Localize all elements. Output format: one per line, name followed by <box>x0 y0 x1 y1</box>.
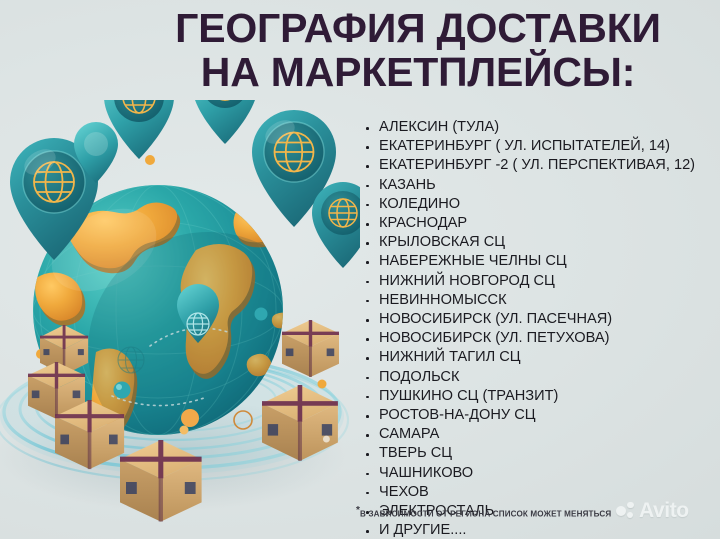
list-item: ЧАШНИКОВО <box>360 464 716 483</box>
list-item: НЕВИННОМЫССК <box>360 291 716 310</box>
title-line-1: ГЕОГРАФИЯ ДОСТАВКИ <box>120 6 716 50</box>
list-item: КРАСНОДАР <box>360 214 716 233</box>
list-item: ЕКАТЕРИНБУРГ -2 ( УЛ. ПЕРСПЕКТИВАЯ, 12) <box>360 156 716 175</box>
list-item: НАБЕРЕЖНЫЕ ЧЕЛНЫ СЦ <box>360 252 716 271</box>
delivery-city-list: АЛЕКСИН (ТУЛА) ЕКАТЕРИНБУРГ ( УЛ. ИСПЫТА… <box>360 118 716 539</box>
list-item: И ДРУГИЕ.... <box>360 521 716 539</box>
globe-node-dot-1 <box>114 382 131 399</box>
globe-illustration <box>0 100 360 539</box>
parcel-box-right-upper <box>282 320 339 377</box>
list-item: ЕКАТЕРИНБУРГ ( УЛ. ИСПЫТАТЕЛЕЙ, 14) <box>360 137 716 156</box>
list-item: КАЗАНЬ <box>360 176 716 195</box>
footnote-text: В ЗАВИСИМОСТИ ОТ РЕГИОНА СПИСОК МОЖЕТ МЕ… <box>360 510 611 519</box>
list-item: САМАРА <box>360 425 716 444</box>
list-item: КРЫЛОВСКАЯ СЦ <box>360 233 716 252</box>
list-item: НОВОСИБИРСК (УЛ. ПАСЕЧНАЯ) <box>360 310 716 329</box>
footnote-disclaimer: *В ЗАВИСИМОСТИ ОТ РЕГИОНА СПИСОК МОЖЕТ М… <box>356 505 611 519</box>
list-item: ПУШКИНО СЦ (ТРАНЗИТ) <box>360 387 716 406</box>
avito-wordmark: Avito <box>639 500 689 521</box>
globe-illustration-svg <box>0 100 360 539</box>
map-pin-far-right <box>312 182 360 268</box>
list-item: НИЖНИЙ ТАГИЛ СЦ <box>360 348 716 367</box>
list-item: ТВЕРЬ СЦ <box>360 444 716 463</box>
list-item: НИЖНИЙ НОВГОРОД СЦ <box>360 272 716 291</box>
list-item: РОСТОВ-НА-ДОНУ СЦ <box>360 406 716 425</box>
avito-watermark: Avito <box>616 500 689 521</box>
list-item: НОВОСИБИРСК (УЛ. ПЕТУХОВА) <box>360 329 716 348</box>
poster-canvas: ГЕОГРАФИЯ ДОСТАВКИ НА МАРКЕТПЛЕЙСЫ: АЛЕК… <box>0 0 720 539</box>
title-line-2: НА МАРКЕТПЛЕЙСЫ: <box>120 50 716 94</box>
avito-logo-icon <box>616 501 636 521</box>
list-item: КОЛЕДИНО <box>360 195 716 214</box>
map-pin-top-center <box>192 100 258 144</box>
globe-node-dot-1-highlight <box>116 384 122 390</box>
poster-title: ГЕОГРАФИЯ ДОСТАВКИ НА МАРКЕТПЛЕЙСЫ: <box>120 6 716 94</box>
list-item: ПОДОЛЬСК <box>360 368 716 387</box>
list-item: АЛЕКСИН (ТУЛА) <box>360 118 716 137</box>
globe-node-dot-2 <box>255 308 268 321</box>
